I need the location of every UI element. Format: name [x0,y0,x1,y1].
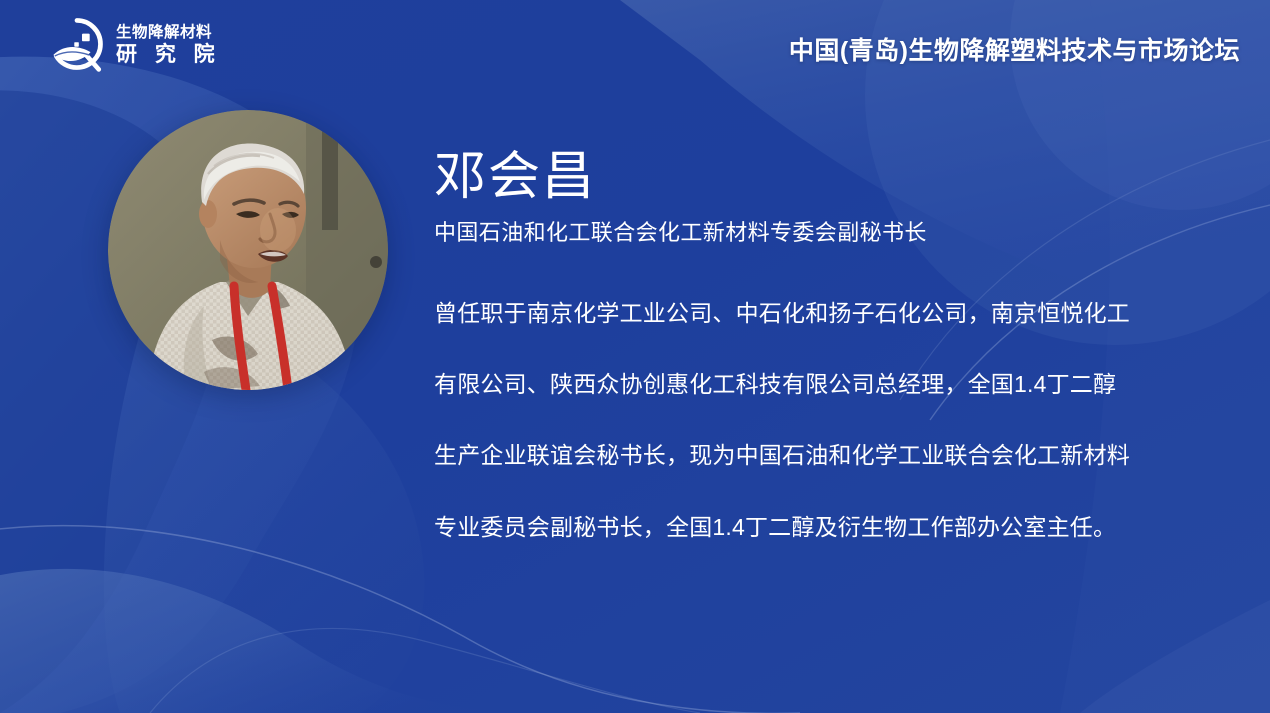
bio-line: 曾任职于南京化学工业公司、中石化和扬子石化公司，南京恒悦化工 [434,301,1194,325]
speaker-slide: 生物降解材料 研 究 院 中国(青岛)生物降解塑料技术与市场论坛 [0,0,1270,713]
forum-title: 中国(青岛)生物降解塑料技术与市场论坛 [789,31,1240,67]
brand-logo: 生物降解材料 研 究 院 [48,15,221,73]
bio-line: 生产企业联谊会秘书长，现为中国石油和化学工业联合会化工新材料 [434,443,1194,467]
bio-line: 有限公司、陕西众协创惠化工科技有限公司总经理，全国1.4丁二醇 [434,372,1194,396]
speaker-name: 邓会昌 [434,150,1194,205]
slide-header: 生物降解材料 研 究 院 中国(青岛)生物降解塑料技术与市场论坛 [0,0,1270,90]
brand-logo-text: 生物降解材料 研 究 院 [116,23,221,66]
speaker-portrait-image [108,110,388,390]
brand-name-line1: 生物降解材料 [116,25,221,41]
bio-line: 专业委员会副秘书长，全国1.4丁二醇及衍生物工作部办公室主任。 [434,515,1194,539]
speaker-info: 邓会昌 中国石油和化工联合会化工新材料专委会副秘书长 曾任职于南京化学工业公司、… [434,150,1194,539]
brand-name-line2: 研 究 院 [116,44,221,65]
speaker-title: 中国石油和化工联合会化工新材料专委会副秘书长 [434,219,1194,248]
speaker-portrait [108,110,388,390]
circular-leaf-q-logo-icon [48,15,106,73]
speaker-bio: 曾任职于南京化学工业公司、中石化和扬子石化公司，南京恒悦化工 有限公司、陕西众协… [434,301,1194,539]
